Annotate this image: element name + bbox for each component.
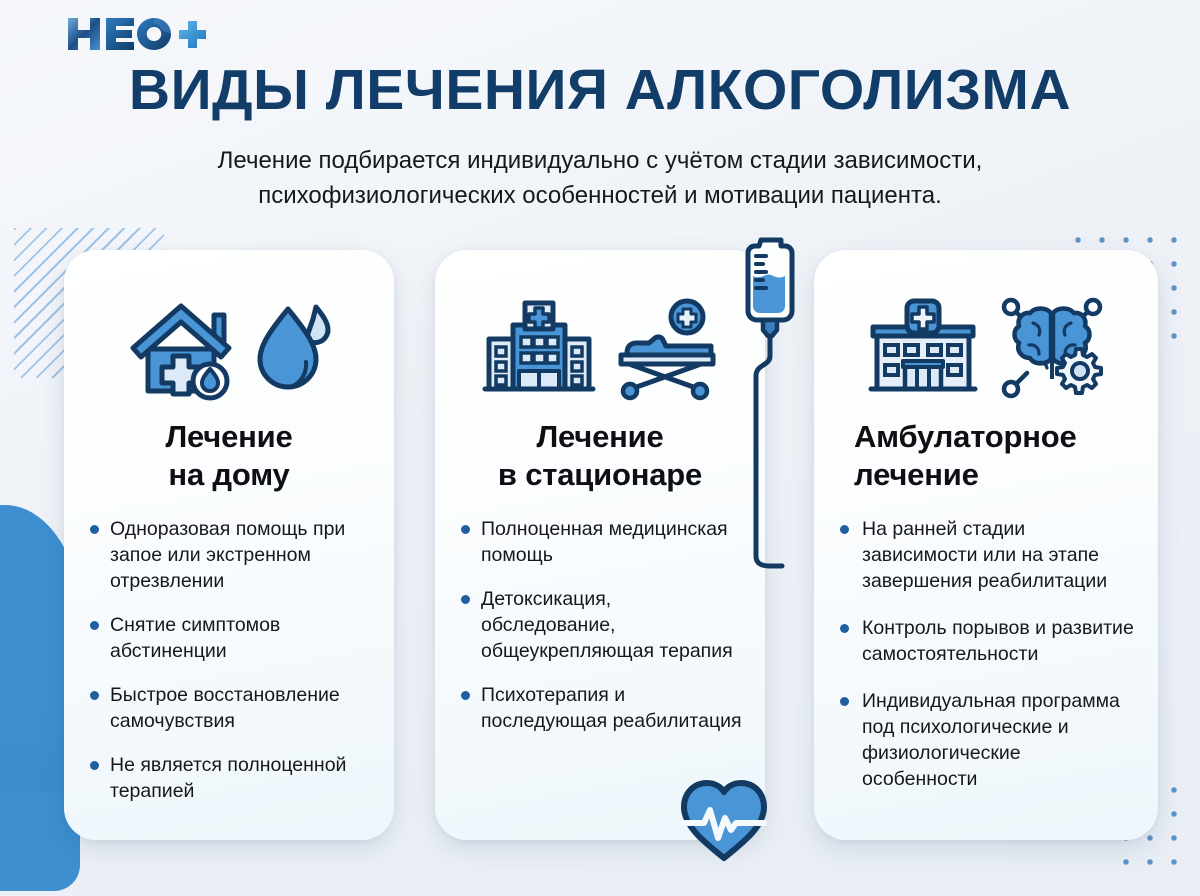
neo-plus-logo xyxy=(66,14,216,54)
list-item: Психотерапия и последующая реабилитация xyxy=(457,682,743,734)
hospital-building-icon xyxy=(483,299,595,399)
list-item: Не является полноценной терапией xyxy=(86,752,372,804)
card-icons xyxy=(457,294,743,404)
card-title: Амбулаторное лечение xyxy=(836,418,1136,494)
list-item: Детоксикация, обследование, общеукрепляю… xyxy=(457,586,743,664)
list-item: Одноразовая помощь при запое или экстрен… xyxy=(86,516,372,594)
card-home-treatment[interactable]: Лечение на дому Одноразовая помощь при з… xyxy=(64,250,394,840)
page-title: ВИДЫ ЛЕЧЕНИЯ АЛКОГОЛИЗМА xyxy=(0,57,1200,123)
card-title-line2: в стационаре xyxy=(498,457,702,492)
card-title-line2: на дому xyxy=(168,457,289,492)
card-inpatient-treatment[interactable]: Лечение в стационаре Полноценная медицин… xyxy=(435,250,765,840)
page-subtitle: Лечение подбирается индивидуально с учёт… xyxy=(120,143,1080,213)
stretcher-icon xyxy=(613,299,717,399)
card-icons xyxy=(86,294,372,404)
card-title-line2: лечение xyxy=(854,457,979,492)
brain-gear-icon xyxy=(1001,299,1105,399)
card-title-line1: Амбулаторное xyxy=(854,419,1077,454)
card-bullet-list: Одноразовая помощь при запое или экстрен… xyxy=(86,516,372,804)
list-item: Контроль порывов и развитие самостоятель… xyxy=(836,615,1136,667)
home-medical-icon xyxy=(128,299,236,399)
card-title-line1: Лечение xyxy=(536,419,663,454)
card-title: Лечение на дому xyxy=(86,418,372,494)
card-title-line1: Лечение xyxy=(165,419,292,454)
infographic-canvas: ВИДЫ ЛЕЧЕНИЯ АЛКОГОЛИЗМА Лечение подбира… xyxy=(0,0,1200,896)
card-outpatient-treatment[interactable]: Амбулаторное лечение На ранней стадии за… xyxy=(814,250,1158,840)
cards-container: Лечение на дому Одноразовая помощь при з… xyxy=(0,250,1200,870)
clinic-building-icon xyxy=(867,299,979,399)
water-drop-icon xyxy=(254,299,330,399)
card-title: Лечение в стационаре xyxy=(457,418,743,494)
card-bullet-list: Полноценная медицинская помощь Детоксика… xyxy=(457,516,743,734)
list-item: Быстрое восстановление самочувствия xyxy=(86,682,372,734)
list-item: На ранней стадии зависимости или на этап… xyxy=(836,516,1136,594)
list-item: Индивидуальная программа под психологиче… xyxy=(836,688,1136,792)
list-item: Снятие симптомов абстиненции xyxy=(86,612,372,664)
card-icons xyxy=(836,294,1136,404)
card-bullet-list: На ранней стадии зависимости или на этап… xyxy=(836,516,1136,792)
list-item: Полноценная медицинская помощь xyxy=(457,516,743,568)
